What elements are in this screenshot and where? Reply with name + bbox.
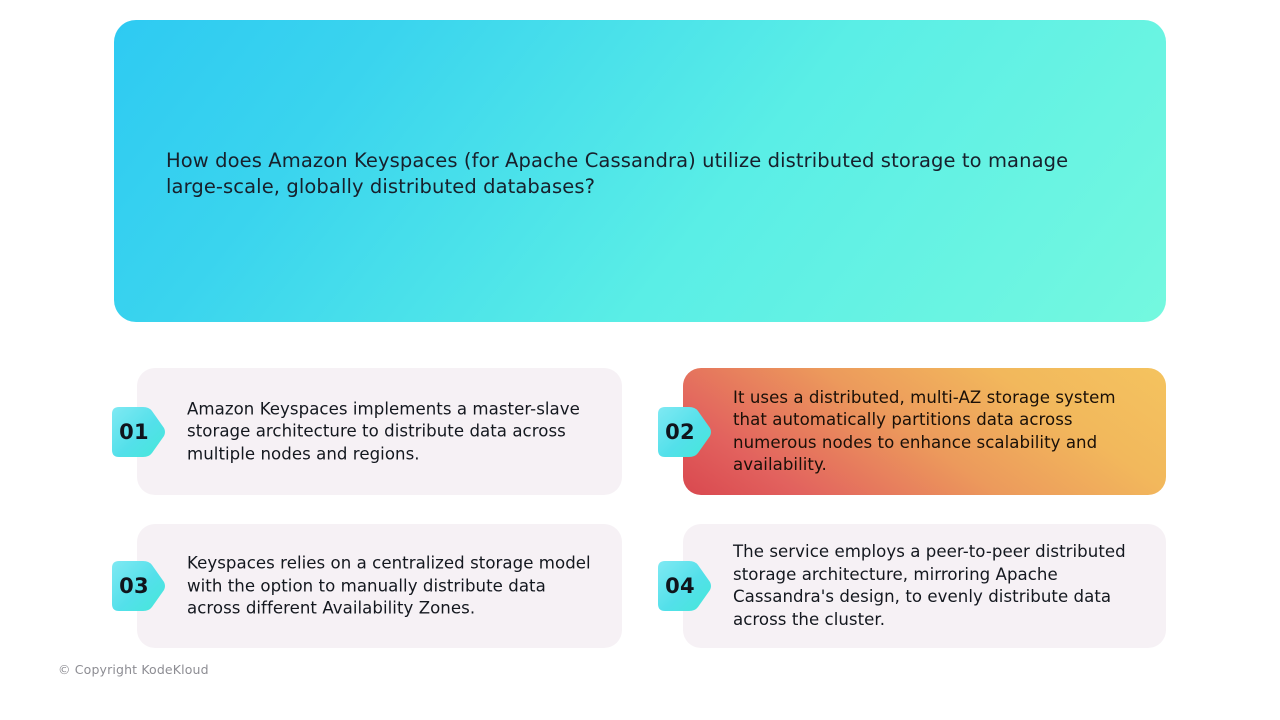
option-text-04: The service employs a peer-to-peer distr… — [733, 541, 1144, 631]
option-card-01[interactable]: 01 Amazon Keyspaces implements a master-… — [137, 368, 622, 495]
option-text-03: Keyspaces relies on a centralized storag… — [187, 552, 600, 620]
option-number-03: 03 — [119, 574, 149, 598]
option-text-01: Amazon Keyspaces implements a master-sla… — [187, 398, 600, 466]
option-number-04: 04 — [665, 574, 695, 598]
option-badge-04: 04 — [653, 555, 715, 617]
option-badge-03: 03 — [107, 555, 169, 617]
footer-copyright: © Copyright KodeKloud — [58, 662, 209, 677]
option-number-02: 02 — [665, 420, 695, 444]
option-card-03[interactable]: 03 Keyspaces relies on a centralized sto… — [137, 524, 622, 648]
option-text-02: It uses a distributed, multi-AZ storage … — [733, 387, 1144, 477]
question-text: How does Amazon Keyspaces (for Apache Ca… — [166, 148, 1121, 200]
option-card-04[interactable]: 04 The service employs a peer-to-peer di… — [683, 524, 1166, 648]
option-number-01: 01 — [119, 420, 149, 444]
option-card-02[interactable]: 02 It uses a distributed, multi-AZ stora… — [683, 368, 1166, 495]
option-badge-01: 01 — [107, 401, 169, 463]
option-badge-02: 02 — [653, 401, 715, 463]
question-banner: How does Amazon Keyspaces (for Apache Ca… — [114, 20, 1166, 322]
